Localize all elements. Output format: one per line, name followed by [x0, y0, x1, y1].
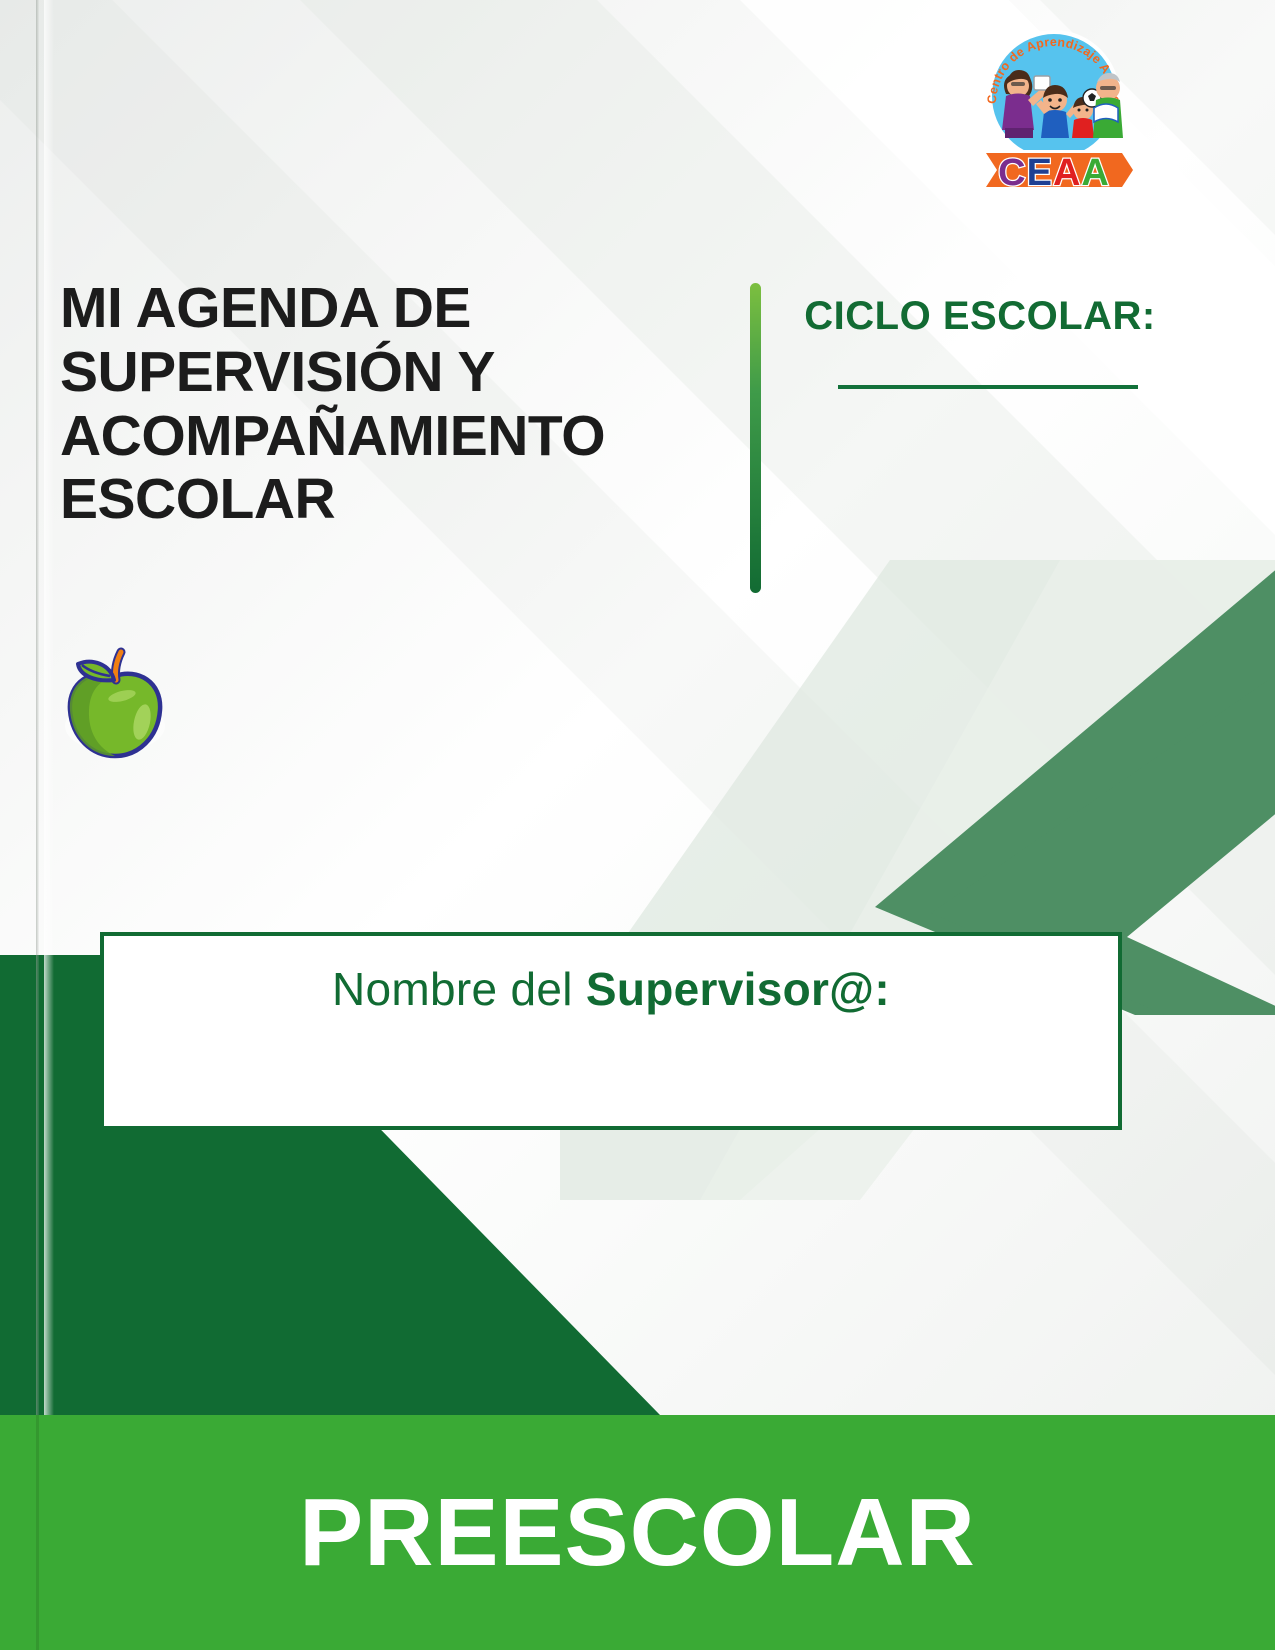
level-banner-text: PREESCOLAR — [299, 1478, 976, 1588]
cover-page: Centro de Aprendizaje Activo — [0, 0, 1275, 1650]
supervisor-label-regular: Nombre del — [332, 963, 586, 1015]
level-banner: PREESCOLAR — [0, 1415, 1275, 1650]
ceaa-logo: Centro de Aprendizaje Activo — [968, 22, 1140, 190]
page-title: MI AGENDA DE SUPERVISIÓN Y ACOMPAÑAMIENT… — [60, 277, 740, 532]
vertical-divider — [750, 283, 761, 593]
school-cycle-write-line[interactable] — [838, 385, 1138, 389]
apple-icon — [58, 640, 173, 760]
supervisor-name-label: Nombre del Supervisor@: — [104, 936, 1118, 1016]
background-gradient — [0, 0, 1275, 1650]
svg-text:CEAA: CEAA — [998, 152, 1110, 190]
logo-letter-e: E — [1027, 152, 1053, 190]
supervisor-label-bold: Supervisor@: — [586, 963, 890, 1015]
logo-letter-a2: A — [1081, 152, 1109, 190]
book-spine-highlight — [44, 0, 54, 1420]
logo-letter-c: C — [998, 152, 1026, 190]
school-cycle-label: CICLO ESCOLAR: — [790, 290, 1170, 343]
banner-spine-line — [36, 1415, 39, 1650]
book-spine-line — [36, 0, 39, 1420]
supervisor-name-box[interactable]: Nombre del Supervisor@: — [100, 932, 1122, 1130]
logo-letter-a1: A — [1053, 152, 1081, 190]
school-cycle-block: CICLO ESCOLAR: — [790, 290, 1170, 389]
logo-figure-man — [1093, 73, 1123, 138]
